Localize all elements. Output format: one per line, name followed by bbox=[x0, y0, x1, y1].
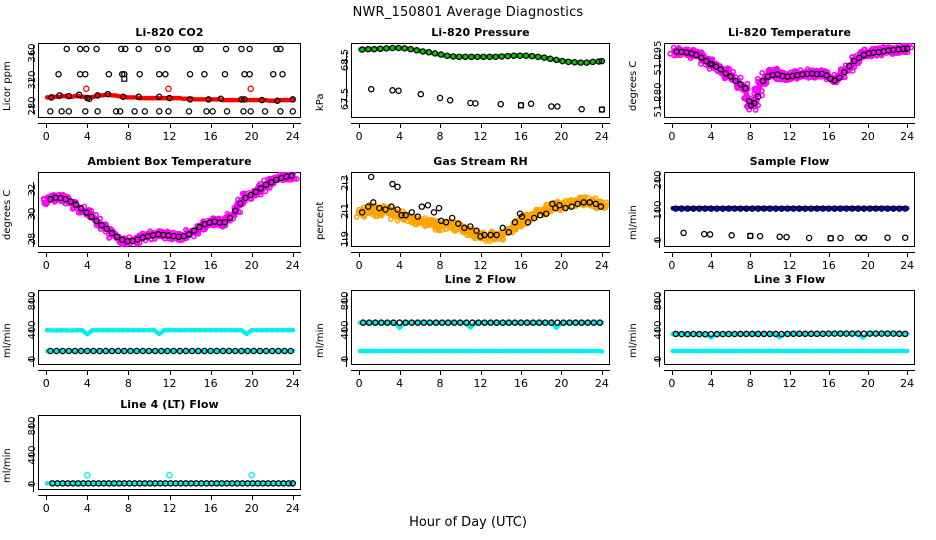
x-tick-mark bbox=[170, 495, 171, 500]
x-tick-label: 12 bbox=[155, 502, 185, 515]
x-tick-label: 0 bbox=[31, 502, 61, 515]
series-line4-cyan-spikes bbox=[85, 473, 255, 478]
y-tick-label: 800 bbox=[27, 404, 38, 448]
x-tick-label: 8 bbox=[113, 502, 143, 515]
panel-line-4-lt-flow: Line 4 (LT) Flow0400800ml/min04812162024 bbox=[0, 0, 936, 540]
series-line4-cyan-band bbox=[45, 481, 295, 486]
x-tick-mark bbox=[211, 495, 212, 500]
x-tick-mark bbox=[128, 495, 129, 500]
x-tick-label: 24 bbox=[278, 502, 308, 515]
panel-title: Line 4 (LT) Flow bbox=[38, 398, 301, 411]
diagnostics-figure: NWR_150801 Average Diagnostics Hour of D… bbox=[0, 0, 936, 540]
x-tick-mark bbox=[46, 495, 47, 500]
x-tick-label: 16 bbox=[196, 502, 226, 515]
y-axis-label: ml/min bbox=[2, 448, 13, 483]
x-tick-mark bbox=[87, 495, 88, 500]
x-tick-label: 20 bbox=[237, 502, 267, 515]
x-tick-mark bbox=[252, 495, 253, 500]
x-tick-label: 4 bbox=[72, 502, 102, 515]
x-tick-mark bbox=[293, 495, 294, 500]
data-layer bbox=[38, 415, 301, 490]
